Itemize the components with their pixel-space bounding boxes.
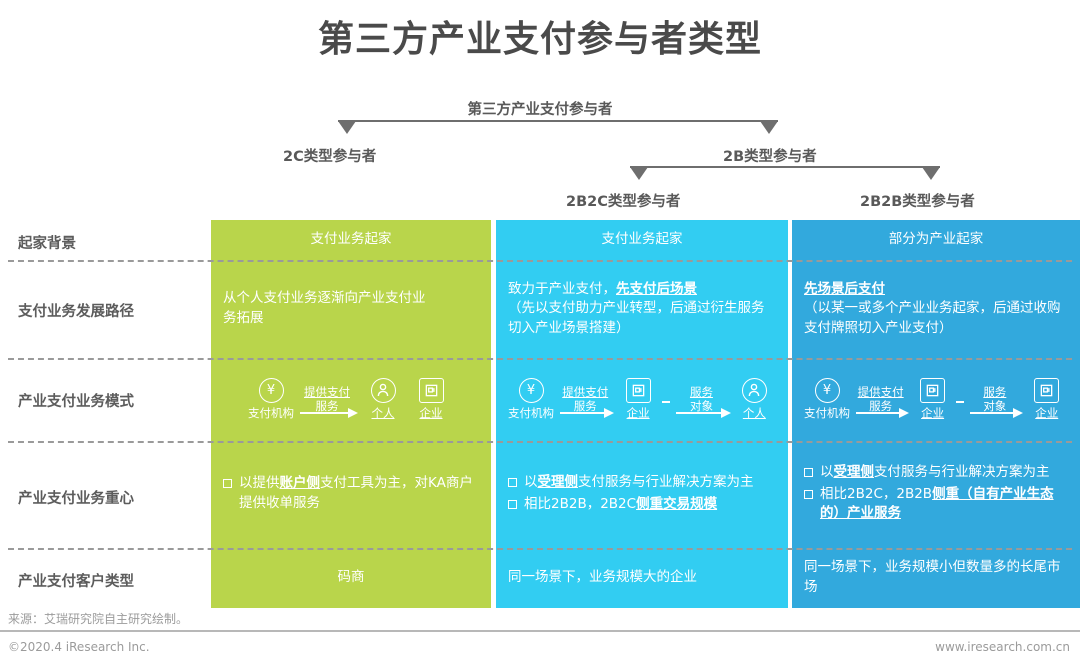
bullet-pre: 相比2B2B，2B2C xyxy=(524,496,636,512)
row-separator xyxy=(8,441,1072,443)
bm-node-label: 企业 xyxy=(420,405,443,422)
yen-circle-icon: ¥ xyxy=(259,378,284,403)
cell-2c-focus: 以提供账户侧支付工具为主，对KA商户提供收单服务 xyxy=(211,441,491,548)
bullet-text: 以受理侧支付服务与行业解决方案为主 xyxy=(820,463,1050,483)
bm-node-payment-institution: ¥ 支付机构 xyxy=(508,378,554,422)
bm-node-label: 支付机构 xyxy=(248,405,294,422)
bm-node-enterprise-1: 企业 xyxy=(911,378,954,422)
bm-arrow-provide-service: 提供支付 服务 xyxy=(556,386,614,412)
bm-node-payment-institution: ¥ 支付机构 xyxy=(804,378,850,422)
bullet-pre: 相比2B2C，2B2B xyxy=(820,486,932,502)
cell-text: 致力于产业支付，先支付后场景 （先以支付助力产业转型，后通过衍生服务切入产业场景… xyxy=(496,260,788,358)
bullet-pre: 以 xyxy=(820,464,834,480)
building-square-icon xyxy=(1034,378,1059,403)
website-url: www.iresearch.com.cn xyxy=(935,640,1070,654)
bullet-text: 相比2B2B，2B2C侧重交易规模 xyxy=(524,495,717,515)
bullet-post: 支付服务与行业解决方案为主 xyxy=(874,464,1050,480)
checkbox-icon xyxy=(508,500,517,509)
bm-arrow-label-1: 服务 xyxy=(983,386,1006,399)
bullet-item: 以提供账户侧支付工具为主，对KA商户提供收单服务 xyxy=(223,474,479,513)
bullet-item: 以受理侧支付服务与行业解决方案为主 xyxy=(804,463,1050,483)
connector-dash xyxy=(662,401,670,403)
cell-2c-model: ¥ 支付机构 提供支付 服务 xyxy=(211,358,491,441)
cell-text: 同一场景下，业务规模小但数量多的长尾市场 xyxy=(792,548,1080,608)
arrow-line xyxy=(300,412,348,414)
cell-2c-customer: 码商 xyxy=(211,548,491,608)
cell-text: 先场景后支付 （以某一或多个产业业务起家，后通过收购支付牌照切入产业支付） xyxy=(792,260,1080,358)
row-label-model: 产业支付业务模式 xyxy=(18,390,134,411)
row-label-customer: 产业支付客户类型 xyxy=(18,570,134,591)
bm-node-label: 支付机构 xyxy=(508,405,554,422)
bullet-emphasis: 账户侧 xyxy=(280,475,321,491)
arrow-down-icon xyxy=(338,121,356,134)
arrow-down-icon xyxy=(922,167,940,180)
hierarchy-label-2b2b: 2B2B类型参与者 xyxy=(860,190,975,211)
hierarchy-diagram: 第三方产业支付参与者 2C类型参与者 2B类型参与者 2B2C类型参与者 2B2… xyxy=(0,90,1080,220)
bm-arrow-label-1: 提供支付 xyxy=(858,386,904,399)
bm-node-individual: 个人 xyxy=(360,378,406,422)
path-emphasis: 先支付后场景 xyxy=(616,281,697,297)
row-separator xyxy=(8,548,1072,550)
path-detail: （以某一或多个产业业务起家，后通过收购支付牌照切入产业支付） xyxy=(804,300,1061,336)
row-label-origin: 起家背景 xyxy=(18,232,76,253)
path-detail: （先以支付助力产业转型，后通过衍生服务切入产业场景搭建） xyxy=(508,300,765,336)
path-line: 从个人支付业务逐渐向产业支付业 xyxy=(223,290,426,306)
arrow-right-icon xyxy=(721,408,731,418)
cell-2b2b-focus: 以受理侧支付服务与行业解决方案为主 相比2B2C，2B2B侧重（自有产业生态的）… xyxy=(792,441,1080,548)
bm-node-enterprise: 企业 xyxy=(408,378,454,422)
bullet-pre: 以 xyxy=(524,474,538,490)
person-circle-icon xyxy=(371,378,396,403)
row-label-focus: 产业支付业务重心 xyxy=(18,487,134,508)
arrow-right-icon xyxy=(348,408,358,418)
arrow-right-icon xyxy=(1013,408,1023,418)
bullet-pre: 以提供 xyxy=(239,475,280,491)
bm-node-payment-institution: ¥ 支付机构 xyxy=(248,378,294,422)
row-label-cell: 支付业务发展路径 xyxy=(0,260,210,358)
hierarchy-label-2c: 2C类型参与者 xyxy=(283,145,376,166)
bm-arrow-label-1: 服务 xyxy=(690,386,713,399)
cell-text: 支付业务起家 xyxy=(211,220,491,260)
cell-2b2c-origin: 支付业务起家 xyxy=(496,220,788,260)
cell-text: 支付业务起家 xyxy=(496,220,788,260)
checkbox-icon xyxy=(804,490,813,499)
bm-node-enterprise: 企业 xyxy=(616,378,659,422)
arrow-line xyxy=(856,412,899,414)
row-separator xyxy=(8,260,1072,262)
building-square-icon xyxy=(920,378,945,403)
row-label-path: 支付业务发展路径 xyxy=(18,300,134,321)
person-circle-icon xyxy=(742,378,767,403)
bullet-text: 以受理侧支付服务与行业解决方案为主 xyxy=(524,473,754,493)
yen-circle-icon: ¥ xyxy=(815,378,840,403)
cell-2b2b-path: 先场景后支付 （以某一或多个产业业务起家，后通过收购支付牌照切入产业支付） xyxy=(792,260,1080,358)
cell-2c-path: 从个人支付业务逐渐向产业支付业 务拓展 xyxy=(211,260,491,358)
cell-text: 从个人支付业务逐渐向产业支付业 务拓展 xyxy=(211,260,491,358)
bullet-emphasis: 受理侧 xyxy=(538,474,579,490)
bm-arrow-service-target: 服务 对象 xyxy=(672,386,730,412)
copyright-text: ©2020.4 iResearch Inc. xyxy=(8,640,150,654)
bullet-post: 支付服务与行业解决方案为主 xyxy=(578,474,754,490)
arrow-line xyxy=(560,412,604,414)
bullet-text: 相比2B2C，2B2B侧重（自有产业生态的）产业服务 xyxy=(820,485,1068,524)
hierarchy-root-label: 第三方产业支付参与者 xyxy=(0,98,1080,119)
row-separator xyxy=(8,358,1072,360)
hierarchy-label-2b2c: 2B2C类型参与者 xyxy=(566,190,680,211)
row-label-cell: 产业支付业务模式 xyxy=(0,358,210,441)
footer-divider xyxy=(0,630,1080,632)
infographic-page: 第三方产业支付参与者类型 第三方产业支付参与者 2C类型参与者 2B类型参与者 … xyxy=(0,0,1080,667)
checkbox-icon xyxy=(223,479,232,488)
cell-text: 部分为产业起家 xyxy=(792,220,1080,260)
bracket-bar xyxy=(630,166,940,168)
cell-text: 以受理侧支付服务与行业解决方案为主 相比2B2B，2B2C侧重交易规模 xyxy=(496,441,788,548)
checkbox-icon xyxy=(508,478,517,487)
path-line: 务拓展 xyxy=(223,310,264,326)
cell-2b2b-model: ¥ 支付机构 提供支付 服务 xyxy=(792,358,1080,441)
hierarchy-label-2b: 2B类型参与者 xyxy=(723,145,817,166)
path-pre: 致力于产业支付， xyxy=(508,281,616,297)
bm-arrow-provide-service: 提供支付 服务 xyxy=(296,386,358,412)
bm-arrow-service-target: 服务 对象 xyxy=(966,386,1023,412)
row-label-cell: 产业支付业务重心 xyxy=(0,441,210,548)
bm-node-label: 企业 xyxy=(627,405,650,422)
bm-arrow-label-1: 提供支付 xyxy=(304,386,350,399)
arrow-line xyxy=(676,412,720,414)
bracket-bar xyxy=(338,120,778,122)
business-model-diagram: ¥ 支付机构 提供支付 服务 xyxy=(496,358,788,441)
cell-2b2c-customer: 同一场景下，业务规模大的企业 xyxy=(496,548,788,608)
path-emphasis: 先场景后支付 xyxy=(804,281,885,297)
cell-text: 以受理侧支付服务与行业解决方案为主 相比2B2C，2B2B侧重（自有产业生态的）… xyxy=(792,441,1080,548)
bullet-text: 以提供账户侧支付工具为主，对KA商户提供收单服务 xyxy=(239,474,479,513)
building-square-icon xyxy=(626,378,651,403)
bullet-emphasis: 侧重交易规模 xyxy=(636,496,717,512)
arrow-line xyxy=(970,412,1013,414)
connector-dash xyxy=(956,401,964,403)
bm-node-label: 个人 xyxy=(743,405,766,422)
cell-2b2b-origin: 部分为产业起家 xyxy=(792,220,1080,260)
cell-text: 同一场景下，业务规模大的企业 xyxy=(496,548,788,608)
cell-2b2b-customer: 同一场景下，业务规模小但数量多的长尾市场 xyxy=(792,548,1080,608)
cell-text: 以提供账户侧支付工具为主，对KA商户提供收单服务 xyxy=(211,441,491,548)
bm-arrow-label-1: 提供支付 xyxy=(562,386,608,399)
bm-node-label: 企业 xyxy=(921,405,944,422)
bm-node-label: 个人 xyxy=(372,405,395,422)
arrow-down-icon xyxy=(630,167,648,180)
business-model-diagram: ¥ 支付机构 提供支付 服务 xyxy=(792,358,1080,441)
checkbox-icon xyxy=(804,468,813,477)
source-note: 来源：艾瑞研究院自主研究绘制。 xyxy=(8,610,188,627)
yen-circle-icon: ¥ xyxy=(519,378,544,403)
bullet-item: 以受理侧支付服务与行业解决方案为主 xyxy=(508,473,754,493)
cell-text: 码商 xyxy=(211,548,491,608)
cell-2b2c-model: ¥ 支付机构 提供支付 服务 xyxy=(496,358,788,441)
cell-2c-origin: 支付业务起家 xyxy=(211,220,491,260)
cell-2b2c-path: 致力于产业支付，先支付后场景 （先以支付助力产业转型，后通过衍生服务切入产业场景… xyxy=(496,260,788,358)
row-label-cell: 起家背景 xyxy=(0,220,210,260)
bullet-item: 相比2B2B，2B2C侧重交易规模 xyxy=(508,495,717,515)
bm-node-individual: 个人 xyxy=(733,378,776,422)
bm-node-label: 企业 xyxy=(1035,405,1058,422)
page-title: 第三方产业支付参与者类型 xyxy=(0,10,1080,62)
comparison-matrix: 起家背景 支付业务发展路径 产业支付业务模式 产业支付业务重心 产业支付客户类型… xyxy=(0,220,1080,608)
arrow-right-icon xyxy=(604,408,614,418)
building-square-icon xyxy=(419,378,444,403)
business-model-diagram: ¥ 支付机构 提供支付 服务 xyxy=(211,358,491,441)
bm-node-enterprise-2: 企业 xyxy=(1025,378,1068,422)
arrow-right-icon xyxy=(899,408,909,418)
bullet-emphasis: 受理侧 xyxy=(834,464,875,480)
arrow-down-icon xyxy=(760,121,778,134)
bm-arrow-provide-service: 提供支付 服务 xyxy=(852,386,909,412)
bm-node-label: 支付机构 xyxy=(804,405,850,422)
row-label-cell: 产业支付客户类型 xyxy=(0,548,210,608)
bullet-item: 相比2B2C，2B2B侧重（自有产业生态的）产业服务 xyxy=(804,485,1068,524)
cell-2b2c-focus: 以受理侧支付服务与行业解决方案为主 相比2B2B，2B2C侧重交易规模 xyxy=(496,441,788,548)
